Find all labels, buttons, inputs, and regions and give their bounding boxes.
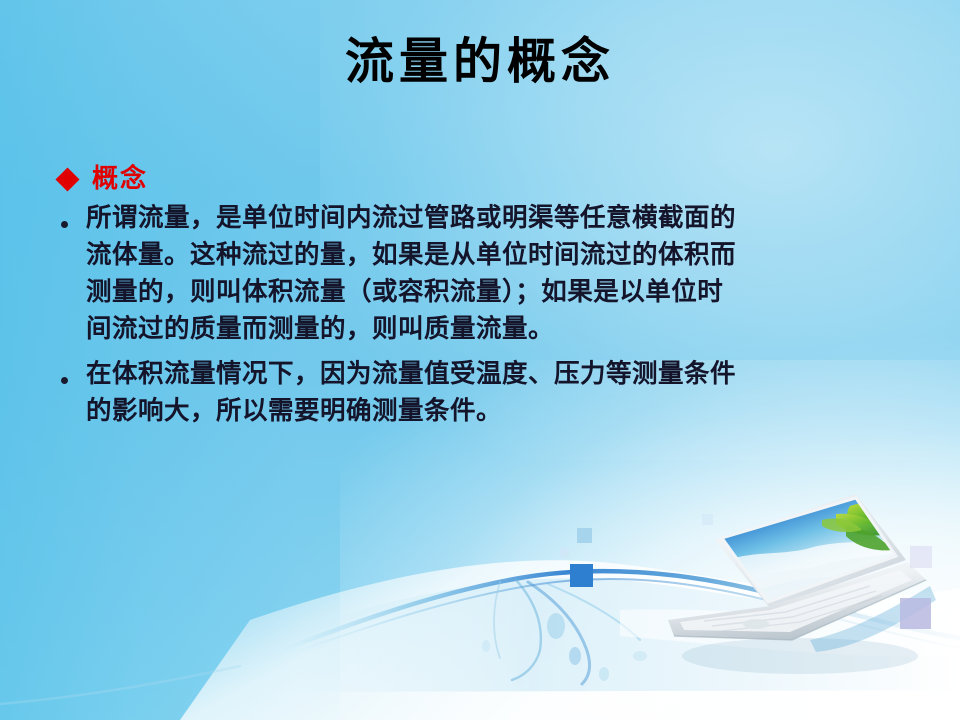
bullet-line: 的影响大，所以需要明确测量条件。 xyxy=(86,393,920,430)
bullet-text: 在体积流量情况下，因为流量值受温度、压力等测量条件 的影响大，所以需要明确测量条… xyxy=(86,356,920,430)
wave-splash-tendril xyxy=(494,582,500,658)
wave-body-pale xyxy=(300,578,960,692)
laptop-shadow xyxy=(682,638,918,674)
section-heading: 概念 xyxy=(52,166,920,192)
laptop-reflection xyxy=(810,586,936,652)
bullet-item: 所谓流量，是单位时间内流过管路或明渠等任意横截面的 流体量。这种流过的量，如果是… xyxy=(52,200,920,348)
bullet-line: 在体积流量情况下，因为流量值受温度、压力等测量条件 xyxy=(86,356,920,393)
square-pale-blue xyxy=(560,548,569,557)
water-droplet xyxy=(482,640,490,652)
slide-body: 概念 所谓流量，是单位时间内流过管路或明渠等任意横截面的 流体量。这种流过的量，… xyxy=(52,166,920,430)
laptop-front-edge xyxy=(674,580,926,640)
laptop-base xyxy=(668,562,926,640)
wave-crest-line-secondary xyxy=(290,579,960,654)
slide-canvas: 流量的概念 概念 所谓流量，是单位时间内流过管路或明渠等任意横截面的 流体量。这… xyxy=(0,0,960,720)
wave-splash-tendril xyxy=(528,582,589,684)
square-tiny-blue xyxy=(702,514,713,525)
wave-tail-left xyxy=(0,666,240,704)
water-wave-icon xyxy=(0,460,960,720)
laptop-bezel xyxy=(722,498,896,602)
water-droplet xyxy=(633,651,647,661)
square-purple xyxy=(900,598,931,629)
water-droplet xyxy=(547,613,565,639)
bullet-text: 所谓流量，是单位时间内流过管路或明渠等任意横截面的 流体量。这种流过的量，如果是… xyxy=(86,200,920,348)
laptop-trackpad xyxy=(743,619,769,629)
diamond-bullet-icon xyxy=(55,167,79,191)
bullet-item: 在体积流量情况下，因为流量值受温度、压力等测量条件 的影响大，所以需要明确测量条… xyxy=(52,356,920,430)
laptop-screen xyxy=(722,498,896,602)
laptop-deck xyxy=(680,570,912,632)
bullet-line: 流体量。这种流过的量，如果是从单位时间流过的体积而 xyxy=(86,237,920,274)
square-purple-pale xyxy=(910,546,932,568)
laptop-screen-wallpaper xyxy=(722,498,896,606)
laptop-lid xyxy=(715,494,906,608)
bullet-marker-icon xyxy=(52,356,86,388)
bullet-marker-icon xyxy=(52,200,86,232)
square-light-blue xyxy=(577,528,592,543)
wave-body-white xyxy=(180,560,960,720)
wave-splash-tendril xyxy=(548,584,640,640)
bullet-line: 所谓流量，是单位时间内流过管路或明渠等任意横截面的 xyxy=(86,200,920,237)
laptop-illustration-icon xyxy=(660,490,940,680)
section-heading-label: 概念 xyxy=(92,166,148,192)
water-droplet xyxy=(569,647,581,665)
wave-crest-line xyxy=(282,571,960,650)
square-blue xyxy=(570,564,593,587)
bullet-line: 测量的，则叫体积流量（或容积流量）；如果是以单位时 xyxy=(86,274,920,311)
wave-highlight xyxy=(620,606,960,657)
bullet-line: 间流过的质量而测量的，则叫质量流量。 xyxy=(86,311,920,348)
wave-splash-tendril xyxy=(512,580,541,680)
laptop-keyboard xyxy=(704,586,882,631)
slide-title: 流量的概念 xyxy=(0,34,960,89)
water-droplet xyxy=(599,667,609,681)
